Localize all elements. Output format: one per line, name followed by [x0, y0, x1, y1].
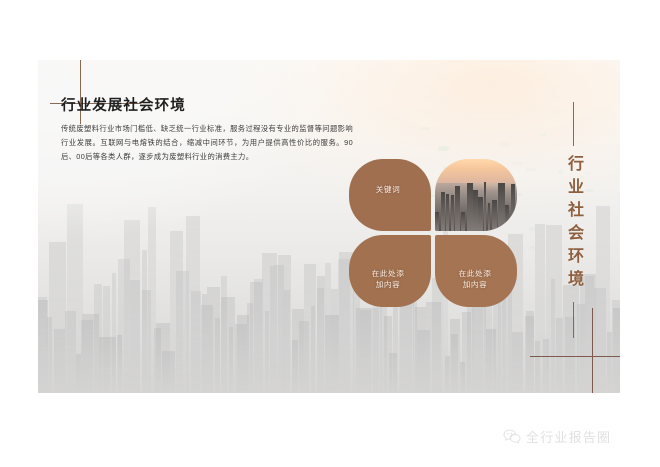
clover-petal-top-right[interactable] — [435, 159, 517, 231]
clover-petal-label: 在此处添 加内容 — [372, 268, 405, 290]
clover-petal-label: 关键词 — [376, 184, 401, 195]
watermark: 全行业报告圈 — [503, 427, 611, 446]
vertical-rule-top — [573, 102, 574, 146]
headline-block: 行业发展社会环境 传统废塑料行业市场门槛低、缺乏统一行业标准，服务过程没有专业的… — [61, 98, 361, 164]
watermark-label: 全行业报告圈 — [526, 427, 611, 446]
vertical-rule-bottom — [573, 302, 574, 338]
wechat-icon — [503, 429, 521, 444]
presentation-slide: 行业发展社会环境 传统废塑料行业市场门槛低、缺乏统一行业标准，服务过程没有专业的… — [38, 60, 620, 393]
vertical-title-block: 行业社会环境 — [558, 102, 588, 352]
clover-petal-label-line1: 在此处添 — [459, 269, 492, 278]
cross-vertical-line — [592, 308, 593, 393]
clover-petal-label-line2: 加内容 — [463, 280, 488, 289]
clover-petal-bottom-left[interactable]: 在此处添 加内容 — [349, 235, 431, 307]
clover-petal-top-left[interactable]: 关键词 — [349, 159, 431, 231]
clover-diagram: 关键词 在此处添 加内容 在此处添 加内容 — [349, 159, 519, 309]
clover-petal-label: 在此处添 加内容 — [459, 268, 492, 290]
headline-body-text: 传统废塑料行业市场门槛低、缺乏统一行业标准，服务过程没有专业的监督等问题影响行业… — [61, 122, 353, 164]
page-canvas: 行业发展社会环境 传统废塑料行业市场门槛低、缺乏统一行业标准，服务过程没有专业的… — [0, 0, 660, 467]
vertical-title: 行业社会环境 — [565, 155, 581, 293]
clover-petal-bottom-right[interactable]: 在此处添 加内容 — [435, 235, 517, 307]
page-title: 行业发展社会环境 — [61, 98, 361, 115]
clover-petal-label-line2: 加内容 — [376, 280, 401, 289]
petal-photo-buildings — [435, 178, 517, 231]
cross-horizontal-line — [530, 356, 620, 357]
clover-petal-label-line1: 在此处添 — [372, 269, 405, 278]
